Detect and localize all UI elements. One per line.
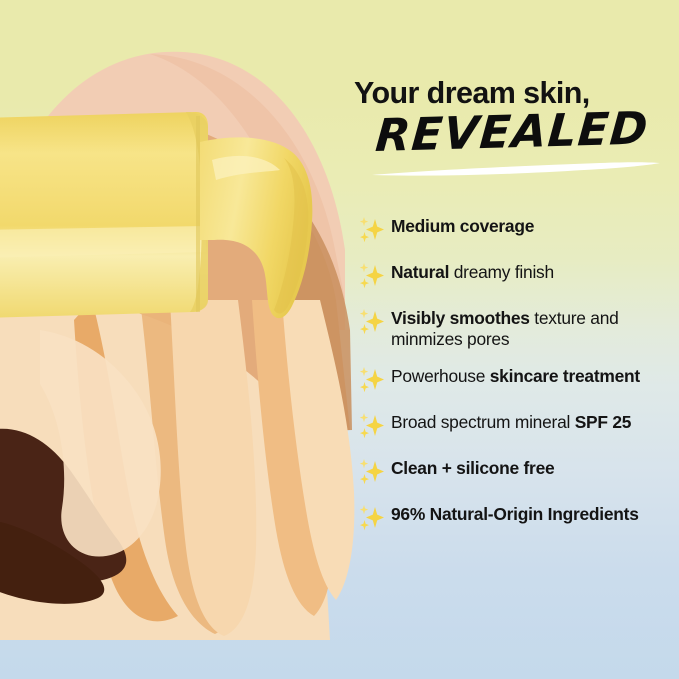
list-item: Natural dreamy finish: [356, 260, 676, 291]
sparkle-icon: [356, 411, 386, 441]
sparkle-icon: [356, 307, 386, 337]
list-item: Medium coverage: [356, 214, 676, 245]
feature-bullet-list: Medium coverage Natural dreamy finish: [356, 214, 676, 533]
list-item-rest: Broad spectrum mineral: [391, 412, 575, 432]
list-item-label: Clean + silicone free: [391, 456, 676, 479]
list-item-label: Visibly smoothes texture and minmizes po…: [391, 306, 676, 349]
list-item-bold: Medium coverage: [391, 216, 534, 236]
list-item-label: Broad spectrum mineral SPF 25: [391, 410, 676, 433]
headline-line-2: REVEALED: [374, 105, 650, 158]
list-item-label: 96% Natural-Origin Ingredients: [391, 502, 676, 525]
product-marketing-poster: Your dream skin, REVEALED Medium coverag…: [0, 0, 679, 679]
list-item-bold: SPF 25: [575, 412, 632, 432]
list-item: 96% Natural-Origin Ingredients: [356, 502, 676, 533]
list-item-rest: dreamy finish: [449, 262, 554, 282]
product-cap-seam: [196, 116, 200, 312]
list-item-bold: skincare treatment: [490, 366, 640, 386]
headline-block: Your dream skin, REVEALED: [354, 78, 676, 173]
list-item-rest: Powerhouse: [391, 366, 490, 386]
product-cap-barrel: [0, 112, 208, 318]
list-item-label: Medium coverage: [391, 214, 676, 237]
sparkle-icon: [356, 365, 386, 395]
list-item: Clean + silicone free: [356, 456, 676, 487]
product-artwork: [0, 0, 360, 679]
list-item: Broad spectrum mineral SPF 25: [356, 410, 676, 441]
list-item-label: Powerhouse skincare treatment: [391, 364, 676, 387]
sparkle-icon: [356, 215, 386, 245]
list-item-label: Natural dreamy finish: [391, 260, 676, 283]
sparkle-icon: [356, 503, 386, 533]
headline-line-2-wrapper: REVEALED: [354, 115, 676, 173]
sparkle-icon: [356, 261, 386, 291]
underline-swoosh-icon: [370, 161, 662, 177]
text-content-column: Your dream skin, REVEALED Medium coverag…: [352, 0, 679, 679]
list-item-bold: Clean + silicone free: [391, 458, 554, 478]
list-item: Visibly smoothes texture and minmizes po…: [356, 306, 676, 349]
list-item-bold: Visibly smoothes: [391, 308, 530, 328]
sparkle-icon: [356, 457, 386, 487]
list-item: Powerhouse skincare treatment: [356, 364, 676, 395]
list-item-bold: 96% Natural-Origin Ingredients: [391, 504, 639, 524]
list-item-bold: Natural: [391, 262, 449, 282]
